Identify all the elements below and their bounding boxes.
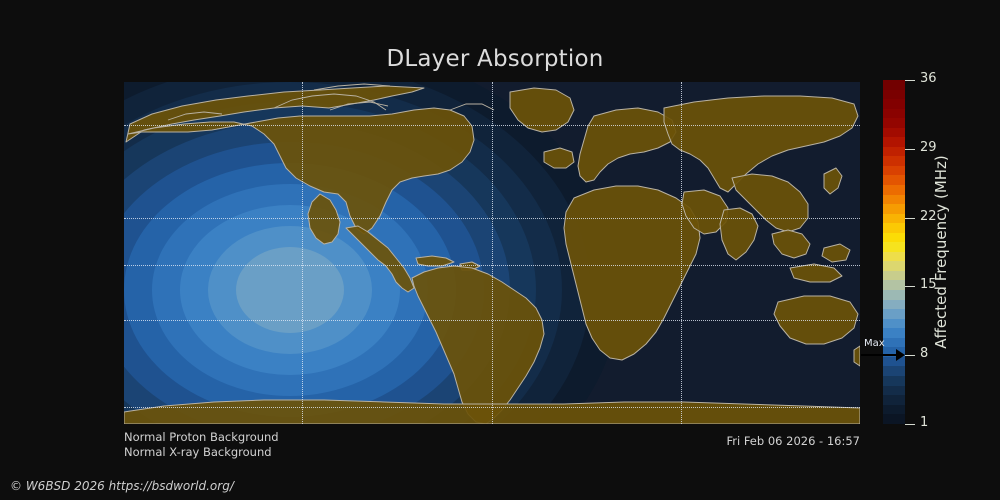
colorbar-segment (883, 166, 905, 176)
colorbar-segment (883, 204, 905, 214)
colorbar-segment (883, 376, 905, 386)
colorbar-segment (883, 195, 905, 205)
graticule (124, 82, 860, 424)
max-arrow-head (896, 349, 905, 361)
colorbar-segment (883, 137, 905, 147)
colorbar-segment (883, 395, 905, 405)
longitude-line (681, 82, 682, 424)
max-marker: Max (860, 338, 906, 364)
world-map[interactable] (124, 82, 860, 424)
colorbar-segment (883, 156, 905, 166)
colorbar-segment (883, 328, 905, 338)
page-title: DLayer Absorption (0, 46, 990, 72)
colorbar-segment (883, 223, 905, 233)
colorbar-segment (883, 233, 905, 243)
longitude-line (302, 82, 303, 424)
colorbar-segment (883, 242, 905, 252)
colorbar-segment (883, 128, 905, 138)
colorbar-segment (883, 300, 905, 310)
colorbar-segment (883, 109, 905, 119)
colorbar-segment (883, 405, 905, 415)
colorbar-segment (883, 185, 905, 195)
colorbar-tick (905, 355, 915, 356)
colorbar-tick (905, 424, 915, 425)
colorbar-segment (883, 414, 905, 424)
colorbar-segment (883, 90, 905, 100)
longitude-line (492, 82, 493, 424)
xray-background-note: Normal X-ray Background (124, 445, 272, 459)
colorbar-tick (905, 149, 915, 150)
colorbar-tick (905, 80, 915, 81)
colorbar-axis-label: Affected Frequency (MHz) (930, 80, 952, 424)
dlayer-absorption-plot: DLayer Absorption (0, 0, 1000, 500)
colorbar-segment (883, 386, 905, 396)
colorbar-segment (883, 261, 905, 271)
proton-background-note: Normal Proton Background (124, 430, 279, 444)
colorbar-segment (883, 366, 905, 376)
colorbar-segment (883, 309, 905, 319)
colorbar-tick (905, 218, 915, 219)
colorbar-segment (883, 118, 905, 128)
colorbar-segment (883, 214, 905, 224)
timestamp: Fri Feb 06 2026 - 16:57 (560, 434, 860, 448)
colorbar[interactable] (883, 80, 905, 424)
max-arrow-shaft (861, 354, 901, 356)
colorbar-segment (883, 175, 905, 185)
colorbar-tick (905, 286, 915, 287)
colorbar-segment (883, 290, 905, 300)
colorbar-segment (883, 80, 905, 90)
colorbar-segment (883, 319, 905, 329)
colorbar-segment (883, 252, 905, 262)
colorbar-segment (883, 271, 905, 281)
max-marker-label: Max (864, 338, 885, 349)
colorbar-tick-label: 8 (920, 346, 928, 361)
colorbar-tick-label: 1 (920, 415, 928, 430)
credit-footer: © W6BSD 2026 https://bsdworld.org/ (10, 479, 234, 493)
colorbar-segment (883, 99, 905, 109)
colorbar-segment (883, 280, 905, 290)
colorbar-segment (883, 147, 905, 157)
